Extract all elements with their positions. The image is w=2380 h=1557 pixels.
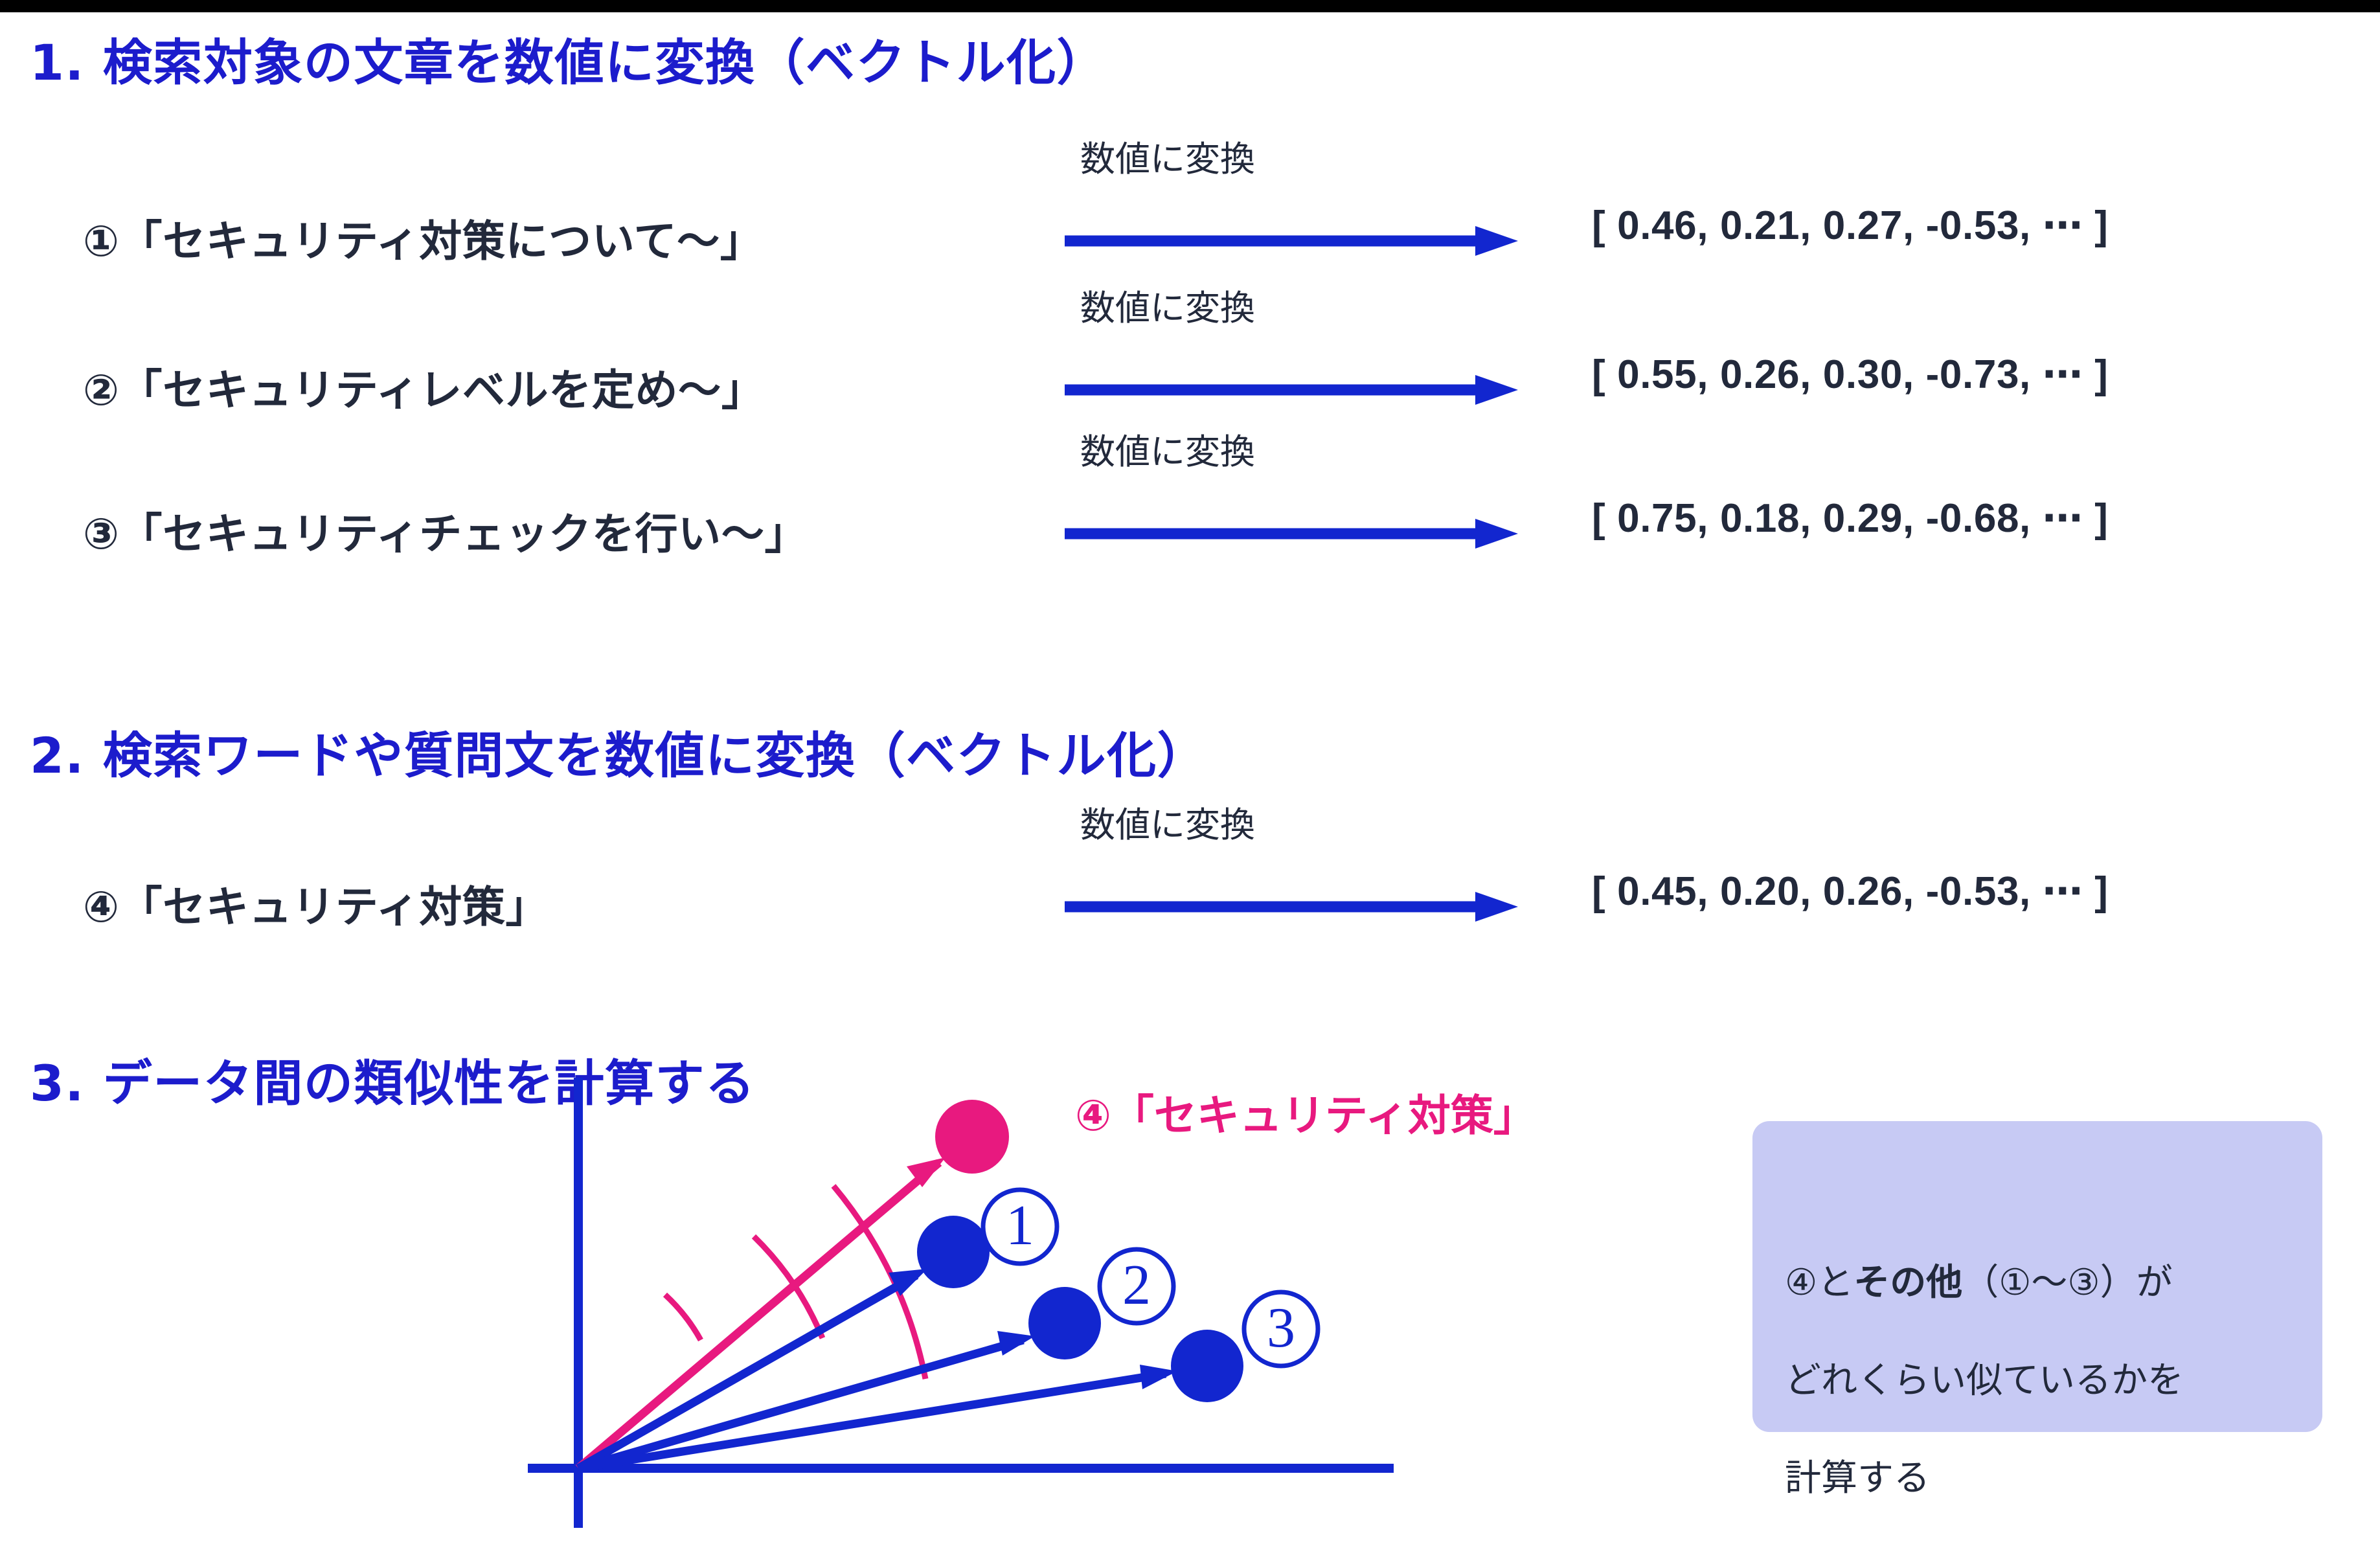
source-text-1: ①「セキュリティ対策について〜」 (83, 207, 764, 269)
embedding-vector-3: [ 0.75, 0.18, 0.29, -0.68, ⋯ ] (1592, 494, 2108, 541)
doc-vector-2-arrow (578, 1331, 1035, 1468)
convert-label-2: 数値に変換 (1080, 279, 1255, 330)
callout-line-1-part-a: ④と (1785, 1262, 1853, 1304)
source-text-2: ②「セキュリティレベルを定め〜」 (83, 356, 764, 418)
embedding-vector-1: [ 0.46, 0.21, 0.27, -0.53, ⋯ ] (1592, 201, 2108, 249)
convert-arrow-2 (1061, 367, 1527, 416)
callout-line-2: どれくらい似ているかを (1785, 1359, 2184, 1402)
convert-arrow-3 (1061, 511, 1527, 560)
convert-label-4: 数値に変換 (1080, 796, 1255, 847)
query-point-dot (935, 1100, 1009, 1174)
callout-line-1-emphasis: その他 (1853, 1262, 1962, 1304)
similarity-vector-diagram: 1 2 3 (492, 1074, 1451, 1554)
vectorize-row-4: ④「セキュリティ対策」 数値に変換 [ 0.45, 0.20, 0.26, -0… (83, 872, 2298, 950)
vectorize-row-2: ②「セキュリティレベルを定め〜」 数値に変換 [ 0.55, 0.26, 0.3… (83, 356, 2298, 433)
top-black-bar (0, 0, 2380, 12)
query-text-4: ④「セキュリティ対策」 (83, 872, 549, 935)
slide-canvas: 1. 検索対象の文章を数値に変換（ベクトル化） ①「セキュリティ対策について〜」… (0, 12, 2380, 1550)
explanation-callout-text: ④とその他（①～③）が どれくらい似ているかを 計算する (1785, 1209, 2303, 1503)
embedding-vector-4: [ 0.45, 0.20, 0.26, -0.53, ⋯ ] (1592, 867, 2108, 915)
embedding-vector-2: [ 0.55, 0.26, 0.30, -0.73, ⋯ ] (1592, 350, 2108, 398)
svg-text:3: 3 (1267, 1297, 1295, 1359)
convert-label-1: 数値に変換 (1080, 130, 1255, 181)
section-1-heading: 1. 検索対象の文章を数値に変換（ベクトル化） (30, 23, 1107, 94)
callout-line-1-part-c: （①～③）が (1962, 1262, 2172, 1304)
doc-point-dot-1 (917, 1216, 990, 1288)
doc-point-dot-3 (1171, 1330, 1243, 1402)
convert-arrow-1 (1061, 218, 1527, 267)
vectorize-row-3: ③「セキュリティチェックを行い〜」 数値に変換 [ 0.75, 0.18, 0.… (83, 499, 2298, 577)
convert-label-3: 数値に変換 (1080, 423, 1255, 474)
svg-text:2: 2 (1122, 1254, 1151, 1317)
source-text-3: ③「セキュリティチェックを行い〜」 (83, 499, 808, 562)
doc-marker-2: 2 (1100, 1249, 1173, 1323)
section-2-heading: 2. 検索ワードや質問文を数値に変換（ベクトル化） (30, 716, 1207, 787)
doc-marker-3: 3 (1244, 1292, 1318, 1366)
convert-arrow-4 (1061, 884, 1527, 933)
svg-text:1: 1 (1006, 1194, 1034, 1257)
vectorize-row-1: ①「セキュリティ対策について〜」 数値に変換 [ 0.46, 0.21, 0.2… (83, 207, 2298, 284)
doc-marker-1: 1 (983, 1190, 1057, 1264)
callout-line-3: 計算する (1785, 1457, 1930, 1499)
doc-point-dot-2 (1028, 1287, 1101, 1359)
